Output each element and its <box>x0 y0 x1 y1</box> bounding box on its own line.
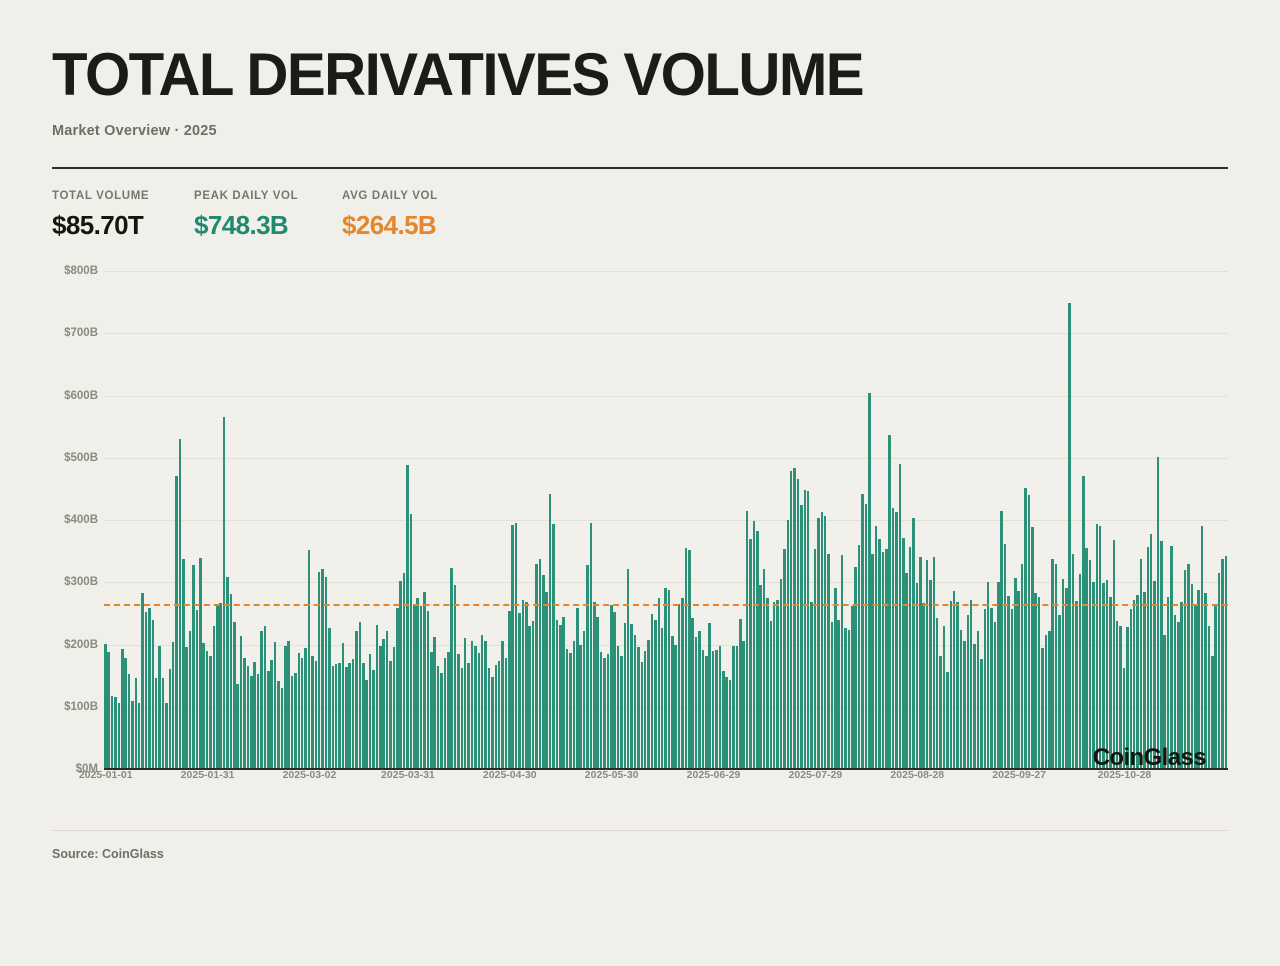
chart-bar <box>1055 564 1058 769</box>
chart-bar <box>1218 573 1221 769</box>
chart-bar <box>169 669 172 769</box>
chart-bar <box>1197 590 1200 769</box>
chart-bar <box>1031 527 1034 769</box>
chart-bar <box>817 518 820 769</box>
chart-bar <box>810 602 813 769</box>
chart-bar <box>175 476 178 769</box>
chart-bar <box>1096 524 1099 769</box>
chart-bar <box>471 641 474 769</box>
chart-bar <box>111 696 114 769</box>
chart-bar <box>1208 626 1211 769</box>
chart-bar <box>413 604 416 769</box>
x-axis-tick-label: 2025-05-30 <box>585 769 639 781</box>
chart-bar <box>1089 560 1092 769</box>
chart-bar <box>382 639 385 769</box>
chart-bar <box>590 523 593 769</box>
chart-bar <box>1028 495 1031 769</box>
chart-bar <box>206 651 209 769</box>
chart-bar <box>933 557 936 769</box>
chart-bar <box>457 654 460 769</box>
chart-bar <box>980 659 983 769</box>
x-axis-tick-label: 2025-03-02 <box>283 769 337 781</box>
chart-bar <box>488 668 491 769</box>
chart-bar <box>508 611 511 769</box>
chart-bar <box>1191 584 1194 769</box>
chart-bar <box>440 673 443 769</box>
chart-bar <box>1143 592 1146 769</box>
chart-bar <box>688 550 691 769</box>
chart-bar <box>793 468 796 769</box>
chart-bar <box>1113 540 1116 769</box>
chart-bar <box>698 631 701 769</box>
infographic-page: TOTAL DERIVATIVES VOLUME Market Overview… <box>0 0 1280 966</box>
chart-bar <box>209 656 212 769</box>
chart-bar <box>1211 656 1214 769</box>
chart-bar <box>335 664 338 769</box>
chart-bar <box>433 637 436 769</box>
chart-bar <box>695 637 698 769</box>
chart-bar <box>712 651 715 769</box>
chart-bar <box>882 552 885 769</box>
chart-bar <box>579 645 582 769</box>
chart-bar <box>916 583 919 769</box>
chart-bar <box>386 631 389 769</box>
chart-bar <box>749 539 752 769</box>
chart-bar <box>1092 582 1095 769</box>
chart-bar <box>1147 547 1150 769</box>
chart-bar <box>1194 604 1197 769</box>
chart-bar <box>552 524 555 769</box>
chart-bar <box>131 701 134 769</box>
chart-bar <box>1225 556 1228 769</box>
chart-bar <box>641 662 644 769</box>
chart-bar <box>909 547 912 769</box>
chart-bar <box>518 613 521 769</box>
chart-bar <box>617 646 620 769</box>
chart-bar <box>603 658 606 769</box>
chart-bar <box>654 620 657 769</box>
chart-bar <box>304 648 307 769</box>
chart-bar <box>495 665 498 769</box>
chart-bar <box>800 505 803 769</box>
chart-bar <box>831 622 834 769</box>
chart-bar <box>939 656 942 769</box>
chart-bar <box>369 654 372 769</box>
chart-bar <box>837 620 840 769</box>
chart-bar <box>447 652 450 769</box>
chart-bar <box>277 681 280 769</box>
chart-bar <box>145 612 148 769</box>
chart-bar <box>912 518 915 769</box>
chart-bar <box>814 549 817 769</box>
chart-bar <box>929 580 932 769</box>
chart-bar <box>943 626 946 769</box>
chart-bar <box>892 508 895 769</box>
chart-bar <box>348 663 351 769</box>
chart-bar <box>756 531 759 769</box>
chart-bar <box>284 646 287 769</box>
chart-bar <box>1017 591 1020 769</box>
chart-bar <box>729 680 732 769</box>
chart-bar <box>1068 303 1071 769</box>
chart-bar <box>410 514 413 769</box>
chart-bar <box>1000 511 1003 769</box>
chart-plot-area <box>104 271 1228 769</box>
chart-bar <box>627 569 630 769</box>
y-axis-tick-label: $600B <box>64 390 98 402</box>
chart-bar <box>1119 626 1122 769</box>
chart-bar <box>807 491 810 769</box>
chart-bar <box>399 581 402 769</box>
chart-bar <box>919 557 922 769</box>
chart-bar <box>199 558 202 769</box>
chart-bar <box>359 622 362 769</box>
chart-bar <box>243 658 246 769</box>
chart-bar <box>736 646 739 769</box>
chart-bar <box>610 605 613 769</box>
chart-bar <box>1085 548 1088 769</box>
chart-bar <box>484 641 487 769</box>
chart-bar <box>787 520 790 769</box>
bar-series <box>104 271 1228 769</box>
chart-bar <box>454 585 457 769</box>
chart-bar <box>274 642 277 769</box>
chart-bar <box>107 652 110 769</box>
chart-bar <box>345 667 348 769</box>
chart-bar <box>1167 597 1170 769</box>
chart-bar <box>1204 593 1207 769</box>
chart-bar <box>216 605 219 769</box>
chart-bar <box>1116 621 1119 769</box>
x-axis-tick-label: 2025-01-01 <box>79 769 133 781</box>
chart-bar <box>922 603 925 769</box>
chart-bar <box>583 631 586 769</box>
chart-bar <box>651 614 654 769</box>
page-title: TOTAL DERIVATIVES VOLUME <box>52 0 1193 103</box>
chart-bar <box>1024 488 1027 769</box>
y-axis-tick-label: $500B <box>64 452 98 464</box>
chart-bar <box>528 626 531 769</box>
chart-bar <box>885 549 888 769</box>
chart-bar <box>240 636 243 769</box>
chart-bar <box>834 588 837 769</box>
chart-bar <box>1174 615 1177 769</box>
chart-bar <box>1150 534 1153 769</box>
chart-bar <box>559 625 562 769</box>
chart-bar <box>946 672 949 769</box>
chart-bar <box>586 565 589 769</box>
chart-bar <box>1184 570 1187 769</box>
chart-bar <box>1051 559 1054 769</box>
chart-bar <box>936 618 939 769</box>
chart-bar <box>664 588 667 769</box>
chart-bar <box>396 608 399 769</box>
chart-bar <box>257 674 260 769</box>
chart-bar <box>467 663 470 769</box>
chart-bar <box>593 602 596 769</box>
chart-bar <box>871 554 874 769</box>
chart-bar <box>1123 668 1126 769</box>
chart-bar <box>739 619 742 769</box>
chart-bar <box>189 631 192 769</box>
chart-bar <box>824 516 827 769</box>
chart-bar <box>155 678 158 769</box>
chart-bar <box>376 625 379 769</box>
chart-bar <box>613 612 616 769</box>
chart-bar <box>1004 544 1007 769</box>
chart-bar <box>1136 595 1139 769</box>
chart-bar <box>1126 627 1129 769</box>
chart-bar <box>124 658 127 769</box>
x-axis-tick-label: 2025-01-31 <box>181 769 235 781</box>
x-axis-tick-label: 2025-09-27 <box>992 769 1046 781</box>
chart-bar <box>987 582 990 769</box>
chart-bar <box>661 628 664 769</box>
chart-bar <box>532 621 535 769</box>
chart-bar <box>1201 526 1204 769</box>
chart-bar <box>1065 588 1068 769</box>
chart-bar <box>902 538 905 769</box>
chart-bar <box>298 653 301 769</box>
chart-bar <box>566 649 569 769</box>
chart-bar <box>247 666 250 769</box>
chart-bar <box>281 688 284 769</box>
y-axis-tick-label: $400B <box>64 514 98 526</box>
chart-bar <box>1170 546 1173 769</box>
chart-bar <box>474 646 477 769</box>
stat-avg-daily-vol-value: $264.5B <box>342 202 542 241</box>
chart-bar <box>219 603 222 769</box>
chart-bar <box>1058 615 1061 769</box>
chart-bar <box>250 676 253 769</box>
chart-bar <box>182 559 185 769</box>
chart-bar <box>854 567 857 769</box>
chart-bar <box>332 666 335 769</box>
chart-bar <box>308 550 311 769</box>
chart-bar <box>861 494 864 769</box>
chart-bar <box>848 630 851 769</box>
chart-bar <box>997 582 1000 769</box>
chart-bar <box>644 651 647 769</box>
chart-bar <box>505 658 508 769</box>
chart-bar <box>311 656 314 769</box>
chart-bar <box>223 417 226 769</box>
chart-bar <box>464 638 467 769</box>
chart-bar <box>253 662 256 769</box>
chart-bar <box>967 615 970 769</box>
chart-bar <box>841 555 844 769</box>
chart-bar <box>437 666 440 769</box>
chart-bar <box>984 609 987 769</box>
chart-bar <box>668 590 671 769</box>
chart-bar <box>875 526 878 769</box>
chart-bar <box>1221 559 1224 769</box>
chart-bar <box>213 626 216 769</box>
chart-bar <box>634 635 637 769</box>
chart-bar <box>715 650 718 769</box>
chart-bar <box>1072 554 1075 769</box>
chart-bar <box>1180 602 1183 769</box>
y-axis-tick-label: $100B <box>64 701 98 713</box>
chart-bar <box>328 628 331 769</box>
chart-bar <box>1160 541 1163 769</box>
chart-bar <box>104 644 107 769</box>
chart-bar <box>804 490 807 769</box>
chart-bar <box>759 585 762 769</box>
chart-bar <box>773 602 776 769</box>
chart-bar <box>545 592 548 769</box>
chart-bar <box>352 659 355 769</box>
chart-bar <box>1109 597 1112 769</box>
chart-bar <box>960 630 963 769</box>
chart-bar <box>797 479 800 769</box>
chart-bar <box>128 674 131 769</box>
chart-bar <box>1130 609 1133 769</box>
stat-total-volume: TOTAL VOLUME $85.70T <box>52 190 194 241</box>
stat-total-volume-label: TOTAL VOLUME <box>52 190 194 202</box>
chart-bar <box>1062 579 1065 769</box>
chart-bar <box>647 640 650 769</box>
chart-bar <box>1214 605 1217 769</box>
chart-bar <box>1187 564 1190 769</box>
chart-bar <box>576 608 579 769</box>
average-reference-line <box>104 604 1228 606</box>
chart-bar <box>342 643 345 769</box>
chart-bar <box>1034 593 1037 769</box>
chart-bar <box>338 663 341 769</box>
chart-bar <box>294 673 297 769</box>
chart-bar <box>372 670 375 769</box>
chart-bar <box>498 661 501 769</box>
chart-bar <box>301 658 304 769</box>
chart-bar <box>1075 601 1078 769</box>
chart-bar <box>406 465 409 769</box>
chart-bar <box>681 598 684 769</box>
chart-bar <box>685 548 688 769</box>
chart-bar <box>705 656 708 769</box>
chart-bar <box>1011 609 1014 769</box>
chart-bar <box>158 646 161 769</box>
chart-bar <box>549 494 552 769</box>
chart-bar <box>1106 580 1109 769</box>
stat-peak-daily-vol-label: PEAK DAILY VOL <box>194 190 342 202</box>
chart-bar <box>135 678 138 770</box>
chart-bar <box>1153 581 1156 769</box>
chart-bar <box>260 631 263 769</box>
chart-bar <box>953 591 956 769</box>
chart-bar <box>977 631 980 769</box>
chart-bar <box>868 393 871 769</box>
chart-bar <box>970 600 973 769</box>
chart-bar <box>321 569 324 769</box>
chart-bar <box>501 641 504 769</box>
chart-bar <box>1041 648 1044 769</box>
stat-peak-daily-vol-value: $748.3B <box>194 202 342 241</box>
chart-bar <box>719 646 722 769</box>
chart-bar <box>270 660 273 769</box>
chart-bar <box>196 610 199 769</box>
chart-bar <box>895 512 898 769</box>
chart-bar <box>165 703 168 769</box>
y-axis-tick-label: $300B <box>64 576 98 588</box>
chart-bar <box>569 653 572 769</box>
stat-avg-daily-vol-label: AVG DAILY VOL <box>342 190 542 202</box>
y-axis-tick-label: $200B <box>64 639 98 651</box>
chart-bar <box>522 600 525 769</box>
chart-bar <box>1099 526 1102 769</box>
chart-bar <box>963 641 966 769</box>
chart-bar <box>780 579 783 769</box>
chart-bar <box>1007 596 1010 769</box>
chart-bar <box>264 626 267 769</box>
chart-bar <box>1102 583 1105 769</box>
chart-bar <box>708 623 711 769</box>
chart-bar <box>1157 457 1160 769</box>
chart-bar <box>121 649 124 769</box>
chart-bar <box>114 697 117 769</box>
chart-bar <box>1021 564 1024 769</box>
chart-bar <box>899 464 902 769</box>
chart-container: $0M$100B$200B$300B$400B$500B$600B$700B$8… <box>52 263 1228 808</box>
chart-bar <box>162 678 165 770</box>
chart-bar <box>118 703 121 769</box>
chart-bar <box>403 573 406 769</box>
chart-bar <box>990 608 993 769</box>
page-subtitle: Market Overview · 2025 <box>52 103 1228 139</box>
chart-bar <box>742 641 745 769</box>
x-axis-tick-label: 2025-08-28 <box>890 769 944 781</box>
chart-bar <box>1045 635 1048 769</box>
x-axis-tick-label: 2025-04-30 <box>483 769 537 781</box>
chart-bar <box>291 676 294 769</box>
chart-bar <box>596 617 599 769</box>
chart-bar <box>722 671 725 769</box>
y-axis-tick-label: $800B <box>64 265 98 277</box>
chart-bar <box>1177 622 1180 769</box>
chart-bar <box>858 545 861 769</box>
stat-peak-daily-vol: PEAK DAILY VOL $748.3B <box>194 190 342 241</box>
chart-bar <box>600 652 603 769</box>
chart-bar <box>562 617 565 770</box>
chart-bar <box>763 569 766 769</box>
chart-bar <box>172 642 175 769</box>
chart-bar <box>141 593 144 769</box>
stat-avg-daily-vol: AVG DAILY VOL $264.5B <box>342 190 542 241</box>
chart-bar <box>556 620 559 769</box>
y-axis-tick-label: $700B <box>64 327 98 339</box>
chart-bar <box>185 647 188 769</box>
chart-bar <box>950 601 953 769</box>
stats-row: TOTAL VOLUME $85.70T PEAK DAILY VOL $748… <box>52 169 1228 241</box>
chart-bar <box>379 646 382 769</box>
chart-bar <box>851 606 854 769</box>
chart-bar <box>1082 476 1085 769</box>
chart-bar <box>770 621 773 769</box>
chart-bar <box>1133 600 1136 769</box>
chart-bar <box>865 504 868 769</box>
chart-bar <box>1163 635 1166 769</box>
chart-bar <box>630 624 633 769</box>
chart-bar <box>1048 631 1051 769</box>
x-axis-baseline <box>104 768 1228 770</box>
chart-bar <box>783 549 786 769</box>
chart-bar <box>355 631 358 769</box>
x-axis-tick-label: 2025-06-29 <box>687 769 741 781</box>
chart-bar <box>878 539 881 769</box>
chart-bar <box>287 641 290 769</box>
chart-bar <box>766 598 769 769</box>
chart-bar <box>478 653 481 769</box>
